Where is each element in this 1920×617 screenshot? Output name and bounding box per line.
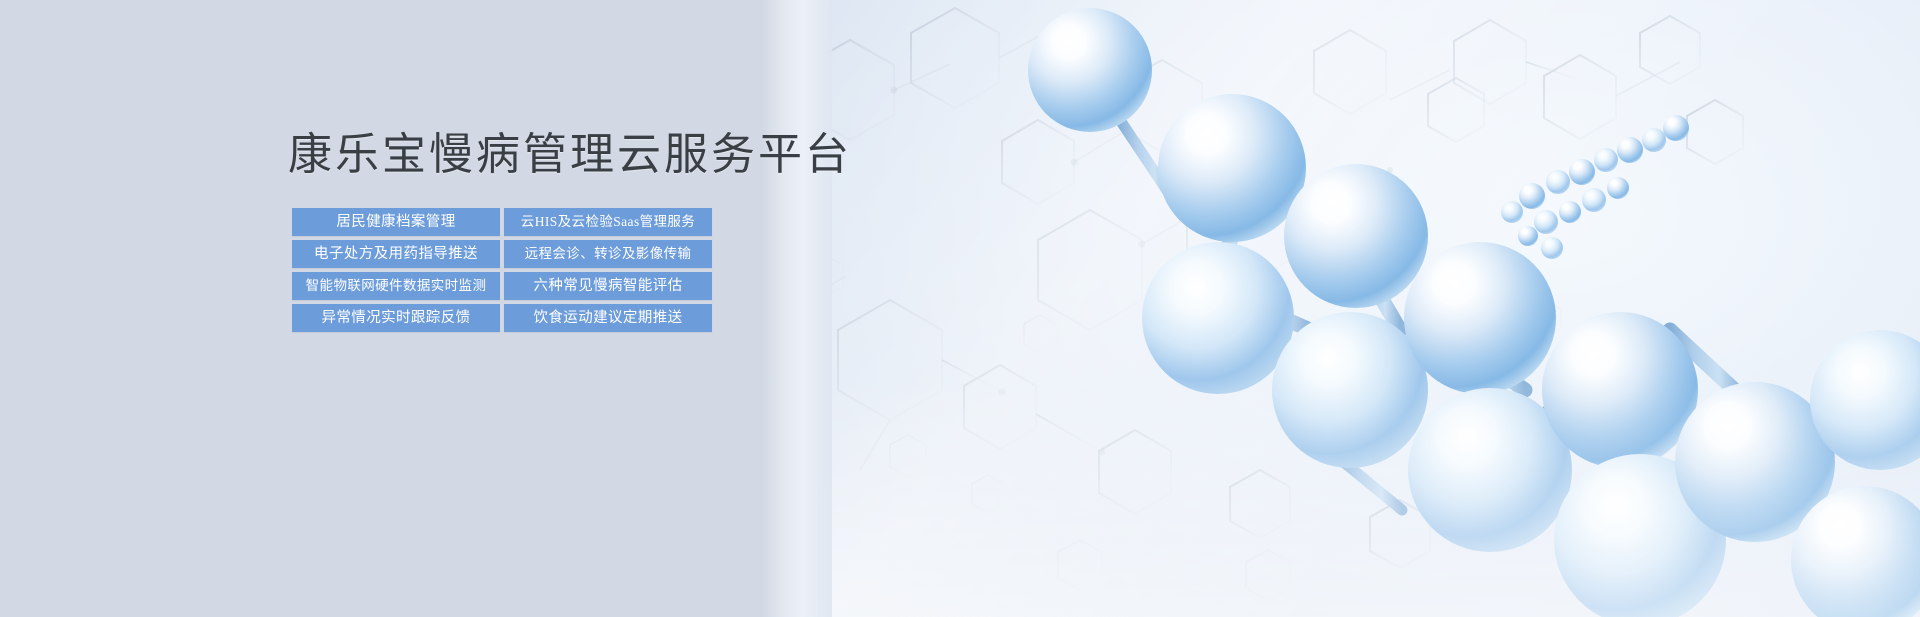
feature-button-diet-exercise-advice[interactable]: 饮食运动建议定期推送 (504, 304, 712, 332)
feature-button-grid: 居民健康档案管理 云HIS及云检验Saas管理服务 电子处方及用药指导推送 远程… (292, 208, 712, 332)
feature-button-six-chronic-assessment[interactable]: 六种常见慢病智能评估 (504, 272, 712, 300)
hero-banner: 康乐宝慢病管理云服务平台 居民健康档案管理 云HIS及云检验Saas管理服务 电… (0, 0, 1920, 617)
page-title: 康乐宝慢病管理云服务平台 (288, 118, 852, 182)
feature-button-iot-device-monitoring[interactable]: 智能物联网硬件数据实时监测 (292, 272, 500, 300)
content-column: 康乐宝慢病管理云服务平台 居民健康档案管理 云HIS及云检验Saas管理服务 电… (0, 0, 790, 617)
feature-button-anomaly-tracking[interactable]: 异常情况实时跟踪反馈 (292, 304, 500, 332)
feature-button-cloud-his-lab-saas[interactable]: 云HIS及云检验Saas管理服务 (504, 208, 712, 236)
feature-button-e-prescription-guidance[interactable]: 电子处方及用药指导推送 (292, 240, 500, 268)
feature-button-resident-health-records[interactable]: 居民健康档案管理 (292, 208, 500, 236)
feature-button-remote-consult-imaging[interactable]: 远程会诊、转诊及影像传输 (504, 240, 712, 268)
right-background-panel (790, 0, 1920, 617)
